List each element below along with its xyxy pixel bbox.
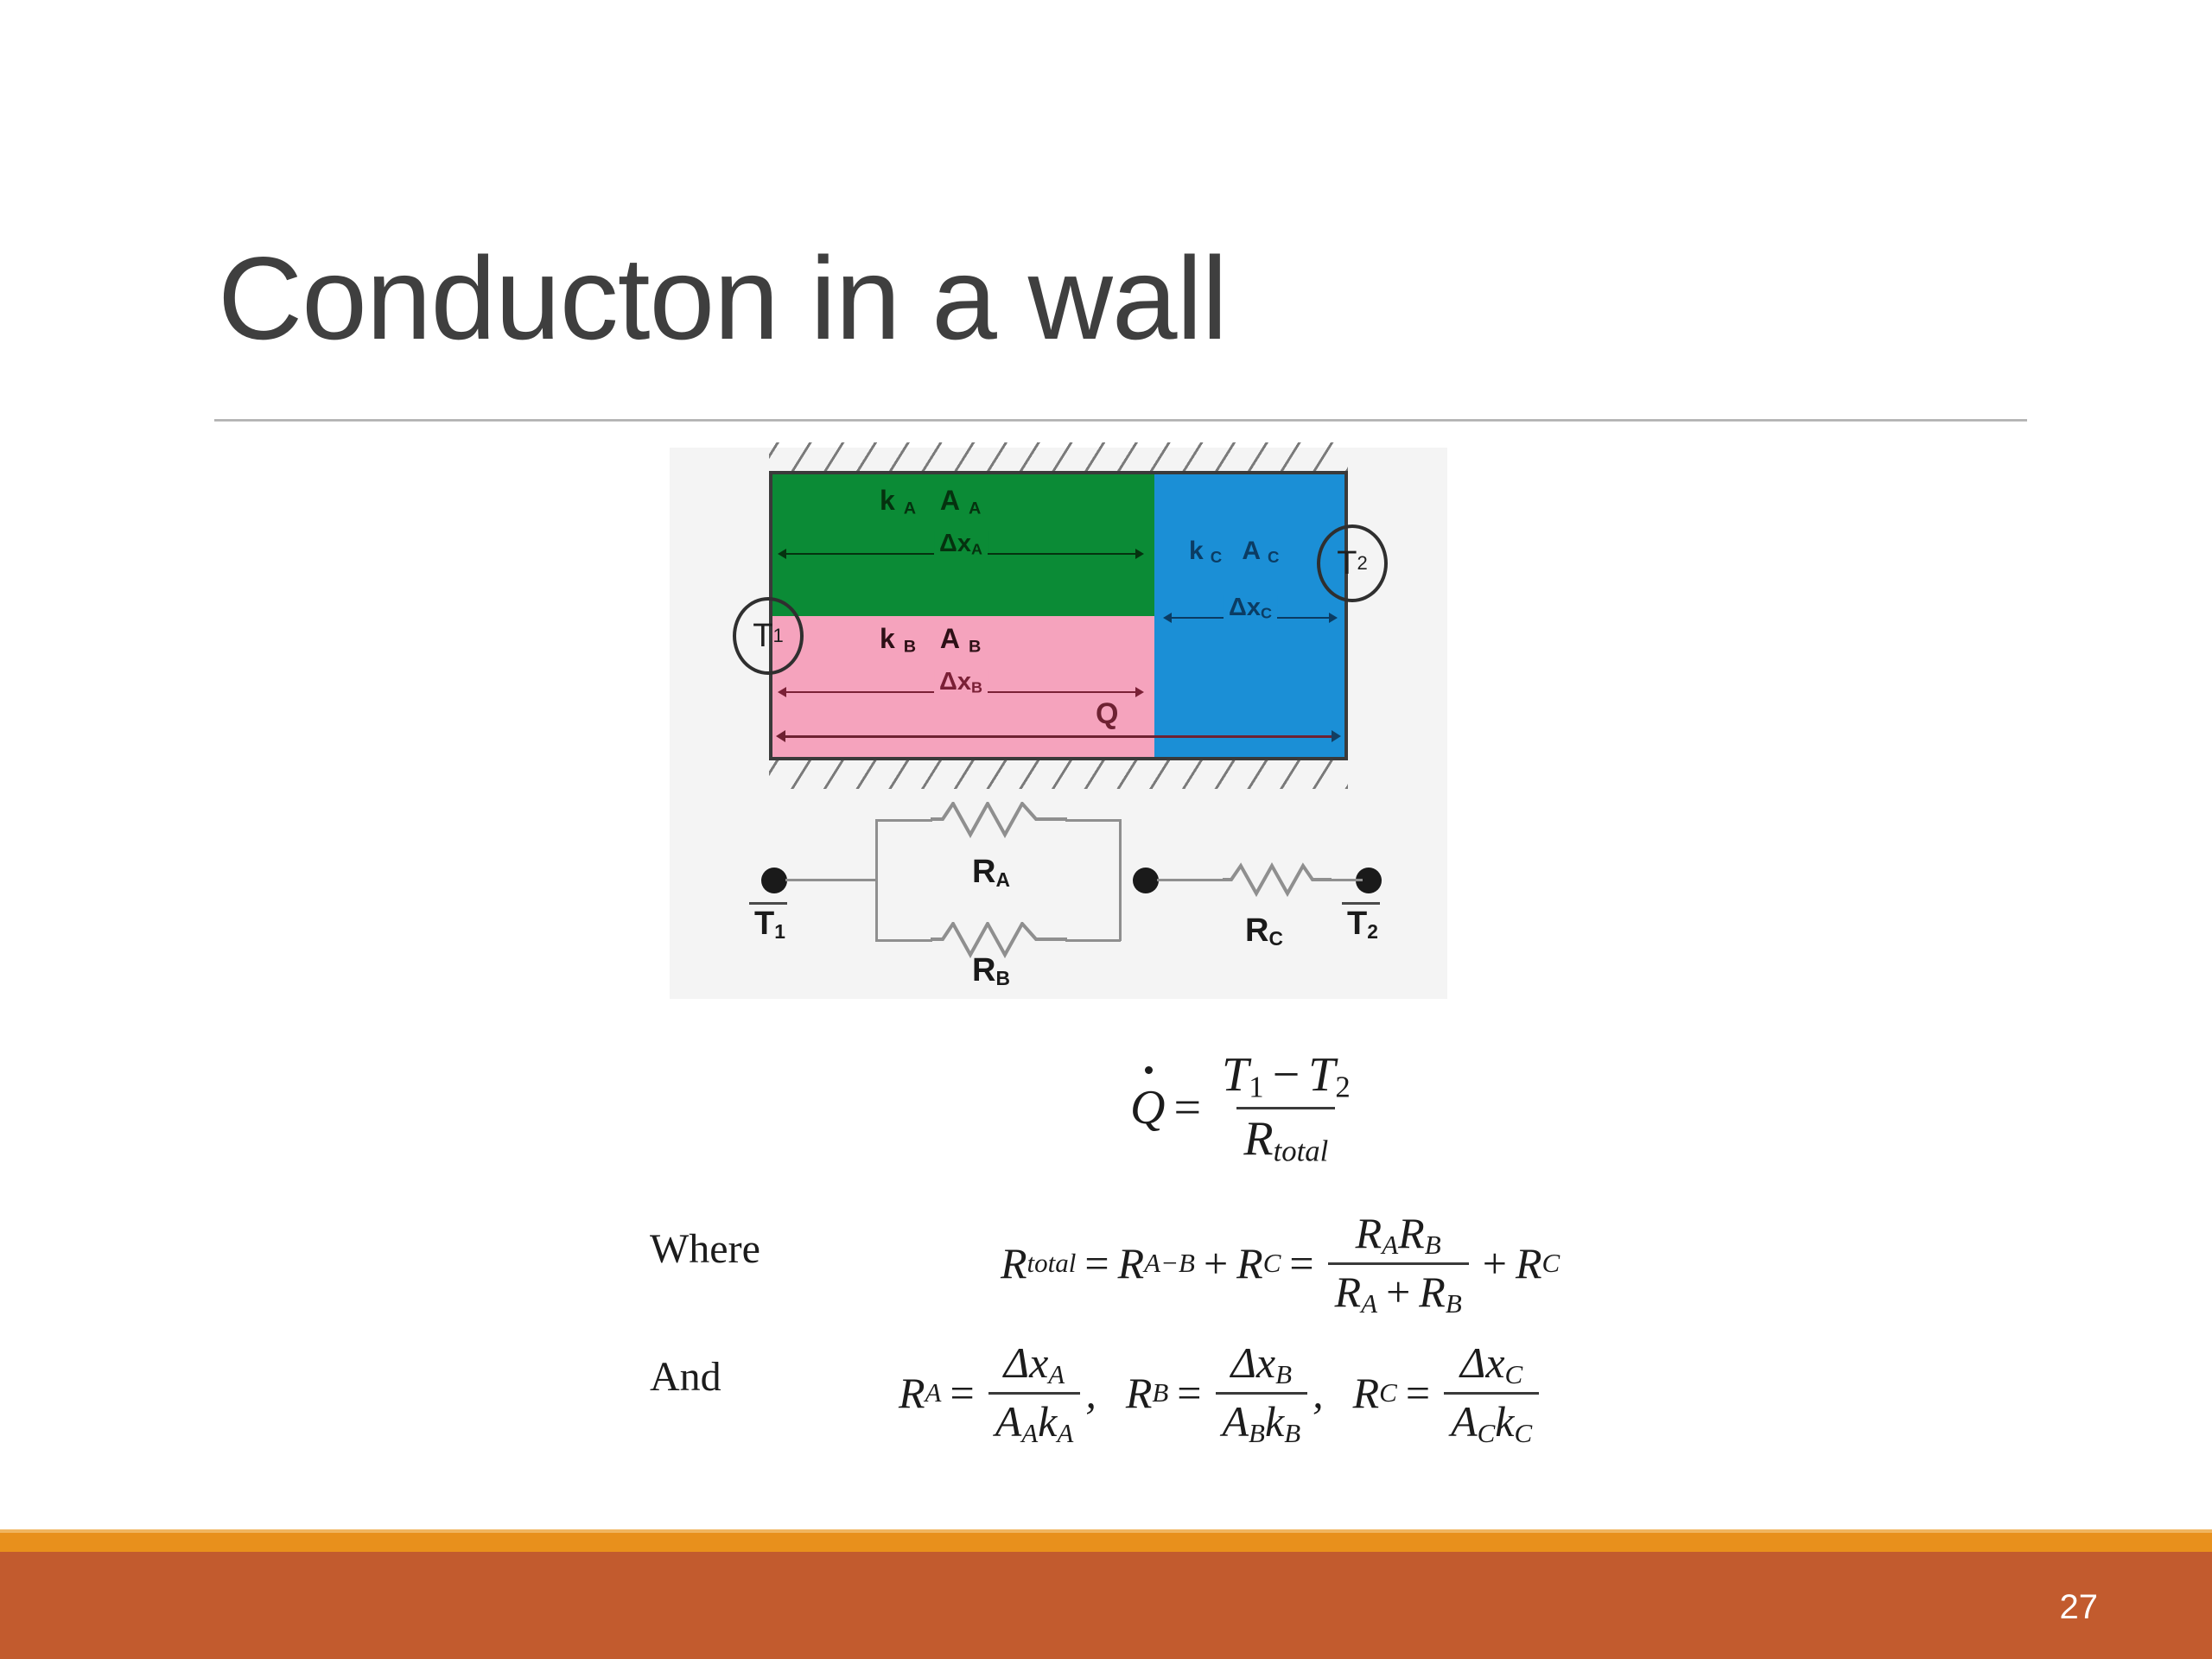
dx-a-sub: A	[1048, 1359, 1065, 1389]
slide-canvas: Conducton in a wall kA AA ΔxA	[0, 0, 2212, 1659]
minus-sign: −	[1264, 1048, 1309, 1102]
rc-subscript-2: C	[1542, 1248, 1560, 1279]
q-dot-group: Q	[1130, 1080, 1165, 1135]
arrow-head-right-icon	[1135, 687, 1144, 697]
dx-c: Δx	[1229, 594, 1261, 621]
equals-sign-2: =	[1281, 1238, 1322, 1288]
circuit-t2-label: T2	[1347, 907, 1378, 942]
wire-left-riser-down	[875, 879, 878, 941]
heat-rate-fraction: T1−T2 Rtotal	[1215, 1047, 1357, 1168]
dx-a-symbol: Δx	[1004, 1338, 1049, 1387]
area-a-symbol: A	[995, 1397, 1022, 1446]
region-c-k-sub: C	[1211, 548, 1229, 566]
node-t1-tick	[749, 902, 787, 905]
region-b-area: A	[940, 623, 969, 654]
arrow-head-right-icon	[1332, 730, 1341, 742]
circuit-node-middle	[1133, 868, 1159, 893]
region-b-k: k	[880, 623, 904, 654]
circuit-t1-letter: T	[754, 906, 774, 942]
rb-sub: B	[995, 967, 1009, 989]
fraction-numerator: T1−T2	[1215, 1047, 1357, 1107]
temperature-t1-bubble: T1	[733, 597, 804, 675]
dx-c-sub: C	[1505, 1359, 1523, 1389]
rc-lhs: R	[1353, 1368, 1380, 1418]
region-a-properties-label: kA AA	[880, 486, 989, 518]
t2-symbol: T	[1308, 1048, 1335, 1102]
comma-1: ,	[1085, 1368, 1096, 1418]
page-number: 27	[2060, 1590, 2099, 1624]
where-label: Where	[650, 1229, 760, 1270]
region-a-thickness-dimension: ΔxA	[778, 545, 1144, 563]
region-b-area-sub: B	[969, 637, 989, 656]
region-a-thickness-label: ΔxA	[934, 531, 988, 557]
wire-rc-to-t2	[1326, 879, 1363, 881]
region-a-area: A	[940, 485, 969, 516]
rc-subscript-1: C	[1263, 1248, 1281, 1279]
circuit-t2-sub: 2	[1367, 920, 1378, 943]
plus-sign-2: +	[1474, 1238, 1516, 1288]
heat-flow-line	[783, 735, 1334, 738]
dx-b-sub: B	[971, 679, 982, 696]
equation-individual-resistances: RA = ΔxA AAkA , RB = ΔxB ABkB , RC =	[899, 1338, 1544, 1449]
circuit-t1-label: T1	[754, 907, 785, 942]
region-b-thickness-label: ΔxB	[934, 670, 988, 696]
equals-sign: =	[941, 1368, 982, 1418]
rab-symbol: R	[1118, 1238, 1145, 1288]
heat-flow-arrow: Q	[776, 727, 1341, 746]
area-c-sub: C	[1478, 1418, 1496, 1448]
rb-letter: R	[972, 952, 995, 988]
hatch-bottom-boundary	[769, 760, 1348, 789]
ra-subscript-num: A	[1382, 1230, 1398, 1260]
t1-subscript: 1	[1249, 1071, 1263, 1104]
hatch-top-boundary	[769, 442, 1348, 472]
rc-lhs-sub: C	[1379, 1377, 1397, 1408]
r-subscript: total	[1274, 1134, 1329, 1167]
resistance-definition-b: RB = ΔxB ABkB ,	[1126, 1338, 1324, 1449]
ra-subscript-den: A	[1361, 1288, 1377, 1319]
region-b-k-sub: B	[904, 637, 925, 656]
fraction-denominator: AAkA	[988, 1392, 1081, 1449]
fraction-denominator: RA+RB	[1328, 1262, 1469, 1319]
wire-top-right	[1065, 819, 1121, 822]
rb-fraction: ΔxB ABkB	[1216, 1338, 1308, 1449]
k-c-symbol: k	[1495, 1397, 1514, 1446]
resistor-b-label: RB	[972, 954, 1010, 988]
arrow-head-right-icon	[1329, 613, 1338, 623]
parallel-resistance-fraction: RARB RA+RB	[1328, 1208, 1469, 1319]
plus-sign-1: +	[1195, 1238, 1236, 1288]
resistance-definition-a: RA = ΔxA AAkA ,	[899, 1338, 1096, 1449]
wire-left-riser-up	[875, 819, 878, 881]
fraction-numerator: ΔxC	[1453, 1338, 1529, 1392]
t2-sub: 2	[1357, 552, 1367, 575]
fraction-numerator: RARB	[1349, 1208, 1448, 1262]
region-c-area: A	[1242, 537, 1268, 565]
wire-right-riser-down	[1119, 879, 1122, 941]
node-t2-tick	[1342, 902, 1380, 905]
wire-top-left	[875, 819, 932, 822]
fraction-numerator: ΔxA	[997, 1338, 1071, 1392]
ra-lhs: R	[899, 1368, 925, 1418]
area-a-sub: A	[1021, 1418, 1038, 1448]
title-divider	[214, 419, 2027, 422]
t2-subscript: 2	[1335, 1071, 1350, 1104]
rc-fraction: ΔxC ACkC	[1444, 1338, 1539, 1449]
rab-subscript: A−B	[1144, 1248, 1195, 1279]
region-b-thickness-dimension: ΔxB	[778, 683, 1144, 701]
region-a-k: k	[880, 485, 904, 516]
dx-c-sub: C	[1261, 605, 1272, 622]
thermal-resistance-circuit: RA RB RC T1 T2	[737, 800, 1402, 964]
fraction-numerator: ΔxB	[1224, 1338, 1299, 1392]
area-b-symbol: A	[1223, 1397, 1249, 1446]
temperature-t2-bubble: T2	[1317, 524, 1388, 602]
rtotal-symbol: R	[1001, 1238, 1027, 1288]
equals-sign: =	[1165, 1080, 1210, 1135]
circuit-t1-sub: 1	[774, 920, 785, 943]
wire-right-riser-up	[1119, 819, 1122, 881]
region-a-k-sub: A	[904, 499, 925, 518]
q-dot-icon	[1145, 1066, 1153, 1074]
equals-sign-1: =	[1076, 1238, 1117, 1288]
t1-sub: 1	[772, 625, 783, 647]
wire-bottom-right	[1065, 939, 1121, 942]
wire-t1-to-split	[785, 879, 877, 881]
equals-sign: =	[1397, 1368, 1439, 1418]
region-c-properties-label: kC AC	[1189, 538, 1286, 566]
fraction-denominator: ABkB	[1216, 1392, 1308, 1449]
rb-lhs: R	[1126, 1368, 1153, 1418]
page-title: Conducton in a wall	[218, 235, 1227, 362]
ra-lhs-sub: A	[925, 1377, 942, 1408]
rb-lhs-sub: B	[1152, 1377, 1168, 1408]
fraction-denominator: ACkC	[1444, 1392, 1539, 1449]
dx-b-symbol: Δx	[1231, 1338, 1276, 1387]
dx-b-sub: B	[1275, 1359, 1292, 1389]
k-c-sub: C	[1515, 1418, 1533, 1448]
area-c-symbol: A	[1451, 1397, 1478, 1446]
ra-symbol-den: R	[1335, 1268, 1362, 1316]
t2-letter: T	[1337, 545, 1357, 582]
plus-sign-den: +	[1377, 1268, 1419, 1316]
rc-letter: R	[1245, 912, 1268, 949]
resistor-a-label: RA	[972, 855, 1010, 890]
rb-symbol-den: R	[1419, 1268, 1446, 1316]
rb-symbol-num: R	[1398, 1209, 1425, 1257]
t1-symbol: T	[1222, 1048, 1249, 1102]
ra-symbol-num: R	[1356, 1209, 1382, 1257]
rb-subscript-num: B	[1425, 1230, 1441, 1260]
footer-orange-stripe	[0, 1533, 2212, 1552]
arrow-head-right-icon	[1135, 549, 1144, 559]
rc-symbol-2: R	[1516, 1238, 1542, 1288]
k-a-symbol: k	[1038, 1397, 1057, 1446]
region-c-k: k	[1189, 537, 1211, 565]
k-a-sub: A	[1057, 1418, 1073, 1448]
wire-middle-to-rc	[1157, 879, 1224, 881]
equation-heat-rate: Q = T1−T2 Rtotal	[1130, 1047, 1363, 1168]
r-symbol: R	[1243, 1112, 1273, 1166]
dx-b: Δx	[939, 668, 971, 696]
resistor-c-label: RC	[1245, 914, 1283, 949]
region-b-properties-label: kB AB	[880, 625, 989, 656]
ra-fraction: ΔxA AAkA	[988, 1338, 1081, 1449]
dx-a: Δx	[939, 530, 971, 557]
circuit-t2-letter: T	[1347, 906, 1367, 942]
dx-a-sub: A	[971, 541, 982, 558]
wire-bottom-left	[875, 939, 932, 942]
resistance-definition-c: RC = ΔxC ACkC	[1353, 1338, 1545, 1449]
resistor-a-zigzag-icon	[931, 802, 1067, 838]
fraction-denominator: Rtotal	[1236, 1107, 1335, 1169]
resistor-c-zigzag-icon	[1223, 862, 1332, 899]
k-b-sub: B	[1284, 1418, 1300, 1448]
rb-subscript-den: B	[1446, 1288, 1462, 1319]
equation-r-total: Rtotal = RA−B + RC = RARB RA+RB + RC	[1001, 1208, 1560, 1319]
t1-letter: T	[753, 618, 772, 655]
region-c-thickness-dimension: ΔxC	[1163, 609, 1338, 626]
rc-sub: C	[1268, 927, 1282, 950]
dx-c-symbol: Δx	[1460, 1338, 1505, 1387]
rtotal-subscript: total	[1027, 1248, 1077, 1279]
ra-letter: R	[972, 854, 995, 890]
q-symbol: Q	[1130, 1081, 1165, 1135]
region-a-area-sub: A	[969, 499, 989, 518]
heat-flow-label: Q	[1096, 699, 1118, 728]
circuit-node-t1	[761, 868, 787, 893]
region-c-area-sub: C	[1268, 548, 1286, 566]
region-c-thickness-label: ΔxC	[1224, 595, 1277, 621]
and-label: And	[650, 1357, 721, 1398]
equals-sign: =	[1168, 1368, 1210, 1418]
figure-panel: kA AA ΔxA kB AB ΔxB kC	[670, 448, 1447, 999]
area-b-sub: B	[1249, 1418, 1265, 1448]
rc-symbol-1: R	[1236, 1238, 1263, 1288]
comma-2: ,	[1313, 1368, 1324, 1418]
k-b-symbol: k	[1265, 1397, 1284, 1446]
resistor-b-zigzag-icon	[931, 922, 1067, 958]
wall-diagram: kA AA ΔxA kB AB ΔxB kC	[769, 471, 1348, 760]
ra-sub: A	[995, 868, 1009, 891]
footer-band	[0, 1552, 2212, 1659]
